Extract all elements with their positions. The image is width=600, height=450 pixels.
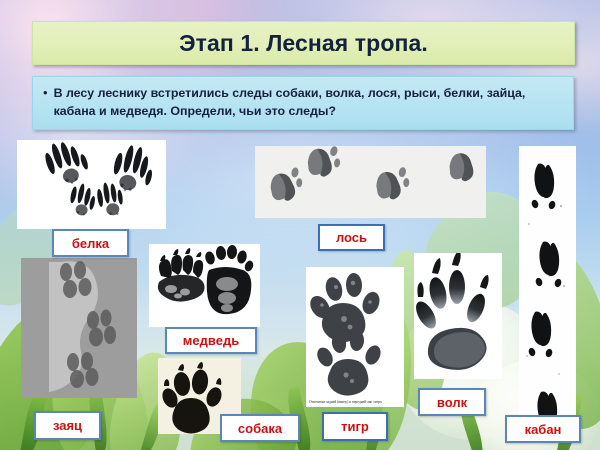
tiger-caption: Отпечатки задней (внизу) и передней лап … <box>306 400 404 405</box>
moose-hoofprints-image <box>255 146 486 218</box>
hare-pawprints-snow-photo <box>21 258 137 398</box>
boar-hoofprints-strip-image <box>519 146 576 427</box>
label-medved-text: медведь <box>183 333 239 348</box>
label-volk-text: волк <box>437 395 467 410</box>
label-kaban[interactable]: кабан <box>505 415 581 443</box>
squirrel-tracks-image <box>17 140 166 229</box>
question-text: В лесу леснику встретились следы собаки,… <box>54 85 573 120</box>
page-title: Этап 1. Лесная тропа. <box>179 30 428 57</box>
label-tigr[interactable]: тигр <box>322 412 388 441</box>
squirrel-tracks-icon <box>17 140 166 229</box>
bear-pawprints-image <box>149 244 260 327</box>
question-box: • В лесу леснику встретились следы собак… <box>32 76 574 130</box>
bullet-glyph: • <box>43 77 48 99</box>
tiger-pawprints-icon <box>306 267 404 407</box>
wolf-pawprint-icon <box>414 253 502 379</box>
slide-title-box: Этап 1. Лесная тропа. <box>32 21 575 65</box>
moose-hoofprints-icon <box>255 146 486 218</box>
boar-hoofprints-icon <box>519 146 576 427</box>
bear-pawprints-icon <box>149 244 260 327</box>
tiger-pawprints-image: Отпечатки задней (внизу) и передней лап … <box>306 267 404 407</box>
label-zayac-text: заяц <box>53 418 82 433</box>
label-medved[interactable]: медведь <box>165 327 257 354</box>
wolf-pawprint-image <box>414 253 502 379</box>
label-kaban-text: кабан <box>525 422 562 437</box>
hare-pawprints-icon <box>21 258 137 398</box>
label-los[interactable]: лось <box>318 224 385 251</box>
label-zayac[interactable]: заяц <box>34 411 101 440</box>
label-volk[interactable]: волк <box>418 388 486 416</box>
label-belka-text: белка <box>72 236 109 251</box>
label-tigr-text: тигр <box>341 419 369 434</box>
slide-canvas: Этап 1. Лесная тропа. • В лесу леснику в… <box>0 0 600 450</box>
label-los-text: лось <box>336 230 367 245</box>
label-sobaka-text: собака <box>238 421 282 436</box>
label-belka[interactable]: белка <box>52 229 129 257</box>
label-sobaka[interactable]: собака <box>220 414 300 442</box>
